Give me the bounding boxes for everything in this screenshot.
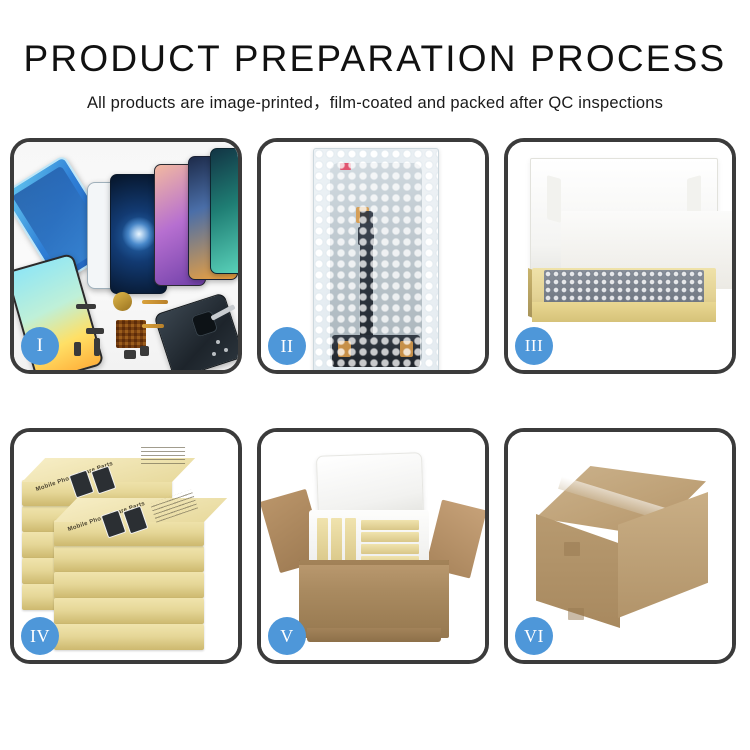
page-subtitle: All products are image-printed，film-coat…: [0, 92, 750, 114]
process-step-2: II: [257, 138, 489, 374]
step-3-image: III: [508, 142, 732, 370]
step-1-image: I: [14, 142, 238, 370]
packed-box: [331, 518, 342, 566]
step-6-image: VI: [508, 432, 732, 660]
small-part-3: [124, 350, 136, 359]
lcd-driver-ic: [358, 227, 374, 245]
camera-module: [140, 346, 149, 356]
step-badge-5: V: [268, 617, 306, 655]
process-step-3: III: [504, 138, 736, 374]
packed-box: [345, 518, 356, 566]
stacked-box: [54, 572, 204, 598]
stacked-box: [54, 546, 204, 572]
flex-cable-1: [142, 300, 168, 304]
screw-1: [216, 340, 220, 344]
step-5-image: V: [261, 432, 485, 660]
screw-3: [212, 352, 216, 356]
packed-box: [361, 532, 419, 542]
stacked-box: [54, 624, 204, 650]
carton-seal-top: [564, 542, 580, 556]
pink-label: [340, 163, 351, 170]
packed-box: [317, 518, 328, 566]
step-badge-2: II: [268, 327, 306, 365]
phone-green: [210, 148, 238, 274]
flex-cable-2: [142, 324, 164, 328]
step-badge-4: IV: [21, 617, 59, 655]
process-step-4: Mobile Phone Spare Parts Mobile Phone Sp…: [10, 428, 242, 664]
page-title: PRODUCT PREPARATION PROCESS: [0, 36, 750, 82]
speaker-part: [113, 292, 132, 311]
screw-2: [224, 348, 228, 352]
bubble-wrap-bag: [313, 148, 439, 370]
flex-tab-left: [338, 341, 351, 357]
step-4-image: Mobile Phone Spare Parts Mobile Phone Sp…: [14, 432, 238, 660]
antenna-part: [76, 304, 96, 309]
carton-bottom-edge: [307, 628, 441, 642]
box-stack: Mobile Phone Spare Parts Mobile Phone Sp…: [20, 450, 238, 650]
shipping-carton-open: [299, 560, 449, 638]
flex-tab-right: [400, 341, 413, 357]
carton-seal-bottom: [568, 608, 584, 620]
step-2-image: II: [261, 142, 485, 370]
box-lid-open: [530, 158, 718, 274]
process-step-6: VI: [504, 428, 736, 664]
stacked-box: [54, 598, 204, 624]
header: PRODUCT PREPARATION PROCESS All products…: [0, 0, 750, 114]
step-badge-6: VI: [515, 617, 553, 655]
process-step-5: V: [257, 428, 489, 664]
button-part: [74, 342, 81, 356]
step-badge-3: III: [515, 327, 553, 365]
packed-box: [361, 520, 419, 530]
lid-flap-left: [547, 175, 561, 223]
tray-front-face: [532, 302, 716, 322]
step-badge-1: I: [21, 327, 59, 365]
small-part-2: [94, 338, 100, 356]
small-part-1: [86, 328, 104, 334]
packed-box: [361, 544, 419, 554]
product-preparation-page: PRODUCT PREPARATION PROCESS All products…: [0, 0, 750, 750]
bubble-wrapped-contents: [544, 270, 704, 304]
process-grid: I II: [10, 138, 740, 694]
process-step-1: I: [10, 138, 242, 374]
